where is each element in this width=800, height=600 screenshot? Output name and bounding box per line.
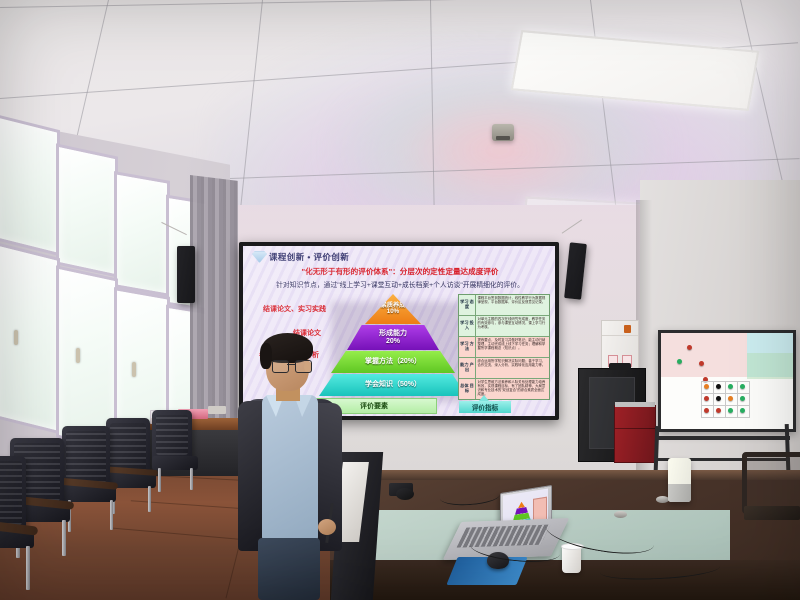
person-hair-side — [260, 343, 272, 369]
table-row-key: 学习 方法 — [459, 337, 476, 357]
window-pane — [56, 143, 118, 277]
person-trousers — [258, 538, 320, 600]
whiteboard-magnet-grid — [701, 381, 749, 417]
person-shirt — [262, 395, 318, 540]
window-handle[interactable] — [132, 362, 136, 377]
panel-indicator-icon — [624, 325, 631, 333]
magnet-icon[interactable] — [704, 396, 709, 401]
chair[interactable] — [742, 452, 800, 562]
magnet-icon[interactable] — [704, 408, 709, 413]
slide-title: 课程创新 • 评价创新 — [269, 251, 349, 263]
chair-back — [742, 452, 800, 514]
whiteboard[interactable] — [658, 330, 796, 432]
evaluation-table: 学习 态度 课程平台签到数据统计，线性教学行为数据规律呈现，平台数据库，评价区反… — [458, 294, 550, 400]
storage-box-gray — [208, 406, 226, 414]
slide-subtitle: 针对知识节点，通过"线上学习+课堂互动+成长档案+个人访谈"开展精细化的评价。 — [251, 279, 549, 289]
whiteboard-tint — [747, 353, 793, 379]
table-row-key: 总体 目标 — [459, 379, 476, 399]
pyramid-level-2-label: 形成能力 — [379, 330, 407, 337]
table-row-text: 课程平台签到数据统计，线性教学行为数据规律呈现，平台数据库，评价区反馈意见记录。 — [476, 295, 549, 315]
magnet-icon[interactable] — [740, 384, 745, 389]
paper-cup — [562, 545, 581, 573]
rack-top-device — [609, 363, 631, 370]
window-pane — [114, 171, 170, 297]
table-row-text: 对单元主题的四次在线研究完成度，教学任务的有效参与，参与课堂互动情况，课上学习行… — [476, 316, 549, 336]
chair-seat — [744, 506, 800, 520]
pyramid-level-2-value: 20% — [386, 338, 400, 345]
table-row-key: 学习 投入 — [459, 316, 476, 336]
microphone-base — [668, 484, 691, 502]
person-hand — [318, 519, 336, 535]
table-row-key: 能力 产出 — [459, 358, 476, 378]
pyramid-level-3: 掌握方法（20%） — [331, 351, 455, 373]
magnet-icon[interactable] — [716, 384, 721, 389]
table-row: 能力 产出 综合运用所学知识解决实际问题；善于学习、合作交流、深入分析、实践转化… — [459, 358, 549, 379]
window-pane — [0, 114, 60, 256]
conference-table-edge — [330, 470, 800, 480]
magnet-icon[interactable] — [728, 396, 733, 401]
whiteboard-stand-rail — [656, 436, 790, 440]
eyeglasses-icon — [272, 360, 310, 371]
pyramid-level-3-label: 掌握方法（20%） — [365, 358, 421, 365]
pyramid-level-2: 形成能力 20% — [347, 325, 439, 350]
slide-red-headline: "化无形于有形的评价体系"：分层次的定性定量达成度评价 — [256, 266, 544, 277]
pyramid-level-1-value: 10% — [387, 309, 399, 316]
wall-speaker-left-icon — [177, 246, 195, 303]
presenter-person — [232, 333, 348, 600]
magnet-icon[interactable] — [740, 408, 745, 413]
ceiling-smoke-detector-icon — [492, 124, 514, 141]
magnet-icon[interactable] — [740, 396, 745, 401]
magnet-icon[interactable] — [716, 396, 721, 401]
table-row: 学习 态度 课程平台签到数据统计，线性教学行为数据规律呈现，平台数据库，评价区反… — [459, 295, 549, 316]
window-handle[interactable] — [76, 348, 80, 363]
slide-left-label-0: 结课论文、实习实践 — [263, 304, 326, 314]
red-cabinet — [614, 405, 656, 463]
window-pane — [0, 242, 60, 434]
cabinet-seam — [615, 428, 655, 429]
cabinet-top — [615, 402, 655, 407]
magnet-icon[interactable] — [699, 361, 704, 366]
table-row: 学习 投入 对单元主题的四次在线研究完成度，教学任务的有效参与，参与课堂互动情况… — [459, 316, 549, 337]
window-handle[interactable] — [14, 330, 18, 345]
table-puck-device — [396, 488, 414, 500]
whiteboard-tint — [661, 333, 747, 377]
meeting-room-photo: 课程创新 • 评价创新 "化无形于有形的评价体系"：分层次的定性定量达成度评价 … — [0, 0, 800, 600]
evaluation-indicator-chip: 评价指标 — [459, 401, 511, 413]
magnet-icon[interactable] — [728, 384, 733, 389]
table-row: 总体 目标 对学生思维方法素养和人际关系处理能力培养有效，实现课程目标，有了团队… — [459, 379, 549, 399]
table-microphone[interactable] — [668, 458, 691, 502]
magnet-icon[interactable] — [716, 408, 721, 413]
magnet-icon[interactable] — [704, 384, 709, 389]
magnet-icon[interactable] — [687, 345, 692, 350]
table-row-text: 提炼要点，及时复习并做好笔记；能主动归纳整理，主动完成线上线下学习任务；理解和掌… — [476, 337, 549, 357]
magnet-icon[interactable] — [728, 408, 733, 413]
table-row-key: 学习 态度 — [459, 295, 476, 315]
cable-grommet — [614, 511, 627, 518]
magnet-icon[interactable] — [677, 359, 682, 364]
pyramid-level-4-label: 学会知识（50%） — [365, 381, 421, 388]
table-row: 学习 方法 提炼要点，及时复习并做好笔记；能主动归纳整理，主动完成线上线下学习任… — [459, 337, 549, 358]
table-row-text: 综合运用所学知识解决实际问题；善于学习、合作交流、深入分析、实践转化应用能力等。 — [476, 358, 549, 378]
